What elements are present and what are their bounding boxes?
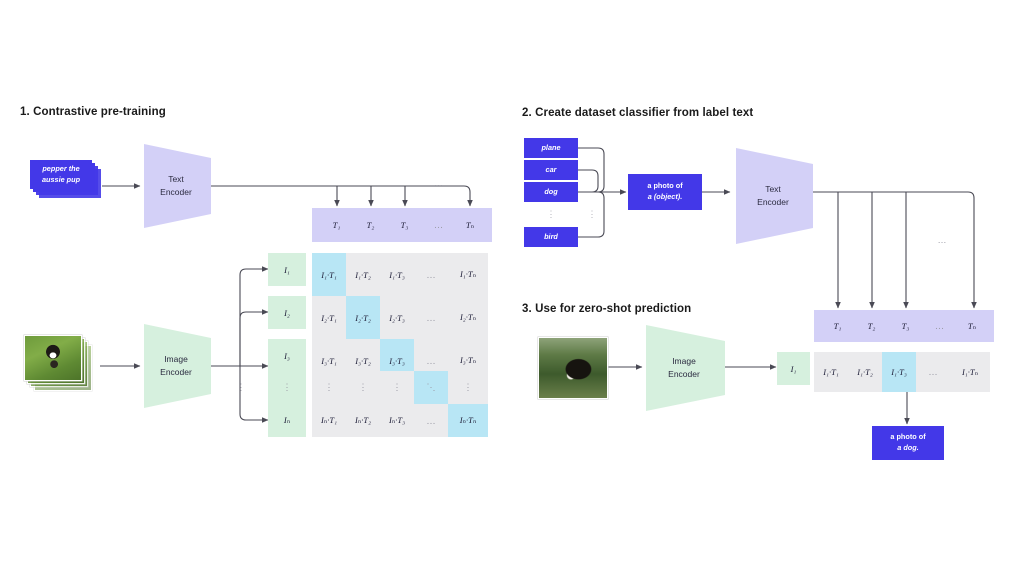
score-cell-3: I₁·T₃: [882, 352, 916, 392]
text-fanout-ellipsis: …: [414, 176, 463, 190]
query-image-thumbnail: [538, 337, 608, 399]
image-embedding-in: Iₙ: [268, 404, 306, 437]
prompt-template-card: a photo of a (object).: [628, 174, 702, 210]
matrix-cell-1-2: I₁·T₂: [346, 253, 380, 296]
matrix-cell-1-5: I₁·Tₙ: [448, 253, 488, 296]
caption-line-1: pepper the: [42, 164, 79, 175]
wire-plane-to-prompt: [578, 148, 604, 192]
training-image-stack: [24, 335, 104, 397]
matrix-cell-2-1: I₂·T₁: [312, 296, 346, 339]
wire-ie-i2: [240, 312, 268, 366]
image-encoder-label-2: Encoder: [160, 366, 192, 379]
matrix-cell-2-3: I₂·T₃: [380, 296, 414, 339]
caption-card-stack: pepper the aussie pup: [30, 160, 106, 208]
section-2-title: 2. Create dataset classifier from label …: [522, 107, 753, 119]
matrix-cell-5-3: Iₙ·T₃: [380, 404, 414, 437]
section-1-title: 1. Contrastive pre-training: [20, 106, 166, 118]
text-encoder-label-2: Encoder: [160, 186, 192, 199]
text-encoder-1: Text Encoder: [140, 144, 212, 228]
score-cell-1: I₁·T₁: [814, 352, 848, 392]
wire-car-to-prompt: [578, 170, 598, 192]
matrix-cell-4-2: ⋮: [346, 371, 380, 404]
section-3-title: 3. Use for zero-shot prediction: [522, 303, 691, 315]
matrix-cell-4-5: ⋮: [448, 371, 488, 404]
caption-line-2: aussie pup: [42, 175, 80, 186]
label-list-ellipsis: ⋮: [544, 205, 558, 223]
image-encoder-3: Image Encoder: [642, 325, 726, 411]
image-embedding-ellipsis: ⋮: [268, 371, 306, 404]
matrix-cell-2-5: I₂·Tₙ: [448, 296, 488, 339]
matrix-cell-5-4: …: [414, 404, 448, 437]
image-encoder-1: Image Encoder: [140, 324, 212, 408]
prediction-line-2: a dog.: [897, 443, 919, 454]
prediction-card: a photo of a dog.: [872, 426, 944, 460]
image-encoder-3-label-2: Encoder: [668, 368, 700, 381]
text-embedding-tn: Tₙ: [448, 208, 492, 242]
image-embedding-i2: I₂: [268, 296, 306, 329]
classifier-text-embedding-tn: Tₙ: [950, 310, 994, 342]
score-cell-4: …: [916, 352, 950, 392]
matrix-cell-1-1: I₁·T₁: [312, 253, 346, 296]
matrix-cell-1-3: I₁·T₃: [380, 253, 414, 296]
label-card-dog: dog: [524, 182, 578, 202]
connector-layer: [0, 0, 1024, 576]
prompt-line-2: a (object).: [648, 192, 682, 203]
image-encoder-3-label-1: Image: [672, 355, 696, 368]
text-encoder-2: Text Encoder: [732, 148, 814, 244]
text-encoder-2-label-2: Encoder: [757, 196, 789, 209]
matrix-cell-4-1: ⋮: [312, 371, 346, 404]
image-encoder-label-1: Image: [164, 353, 188, 366]
matrix-cell-2-2: I₂·T₂: [346, 296, 380, 339]
matrix-cell-4-4: ⋱: [414, 371, 448, 404]
text-encoder-2-fanout-ellipsis: …: [922, 233, 962, 247]
image-embedding-i1: I₁: [268, 253, 306, 286]
caption-card: pepper the aussie pup: [30, 160, 92, 189]
matrix-cell-5-2: Iₙ·T₂: [346, 404, 380, 437]
label-card-bird: bird: [524, 227, 578, 247]
image-embedding-i3: I₃: [268, 339, 306, 372]
text-encoder-label-1: Text: [168, 173, 184, 186]
wire-ie-i1: [240, 269, 268, 366]
matrix-cell-5-5: Iₙ·Tₙ: [448, 404, 488, 437]
score-cell-2: I₁·T₂: [848, 352, 882, 392]
matrix-cell-5-1: Iₙ·T₁: [312, 404, 346, 437]
matrix-cell-1-4: …: [414, 253, 448, 296]
wire-te2-bus: [813, 192, 974, 308]
label-wire-ellipsis: ⋮: [585, 205, 599, 223]
label-card-plane: plane: [524, 138, 578, 158]
prediction-line-1: a photo of: [890, 432, 925, 443]
matrix-cell-4-3: ⋮: [380, 371, 414, 404]
figure-canvas: 1. Contrastive pre-training pepper the a…: [0, 0, 1024, 576]
training-image-thumbnail: [24, 335, 82, 381]
matrix-cell-2-4: …: [414, 296, 448, 339]
text-encoder-2-label-1: Text: [765, 183, 781, 196]
prompt-line-1: a photo of: [647, 181, 682, 192]
score-cell-5: I₁·Tₙ: [950, 352, 990, 392]
image-row-ellipsis-left: ⋮: [234, 371, 248, 404]
query-image-embedding: I₁: [777, 352, 810, 385]
label-card-car: car: [524, 160, 578, 180]
